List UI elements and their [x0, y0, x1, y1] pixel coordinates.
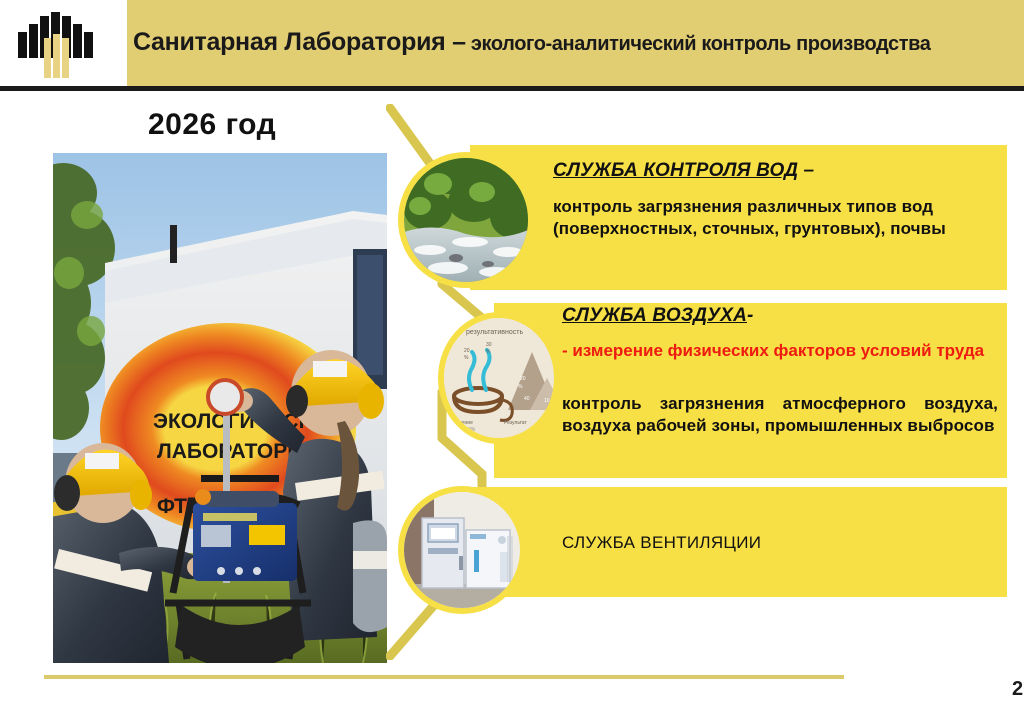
svg-text:%: % — [464, 355, 469, 361]
svg-text:10: 10 — [544, 398, 550, 404]
logo-container — [0, 0, 127, 86]
header-underline — [0, 86, 1024, 91]
slide-root: Санитарная Лаборатория – эколого-аналити… — [0, 0, 1024, 708]
page-title-main: Санитарная Лаборатория – — [133, 28, 466, 56]
year-label: 2026 год — [148, 108, 276, 142]
river-photo-illustration — [404, 158, 528, 282]
panel-air-service — [494, 303, 1007, 478]
page-title: Санитарная Лаборатория – эколого-аналити… — [133, 28, 1013, 57]
water-service-body: контроль загрязнения различных типов вод… — [553, 196, 983, 241]
air-service-highlight: - измерение физических факторов условий … — [562, 340, 998, 362]
svg-text:30: 30 — [486, 342, 492, 348]
footer-rule — [44, 675, 844, 679]
water-service-heading: СЛУЖБА КОНТРОЛЯ ВОД – — [553, 160, 993, 182]
thumb-river-photo — [404, 158, 528, 282]
page-number: 2 — [1012, 678, 1024, 701]
svg-text:план 120%: план 120% — [450, 427, 476, 433]
svg-text:Обучение: Обучение — [450, 420, 473, 426]
thumb-infographic: результативность 20 % 40 10 20 % — [444, 318, 554, 438]
svg-text:%: % — [518, 384, 523, 390]
thumb-lab-equipment — [404, 492, 520, 608]
svg-text:%: % — [486, 349, 491, 355]
water-heading-dash: – — [798, 160, 814, 181]
ventilation-service-heading: СЛУЖБА ВЕНТИЛЯЦИИ — [562, 533, 962, 553]
air-service-heading: СЛУЖБА ВОЗДУХА- — [562, 305, 992, 327]
main-photo-illustration: ЭКОЛОГИЧЕСКАЯ ЛАБОРАТОРИЯ ФТЬ — [53, 153, 387, 663]
svg-text:Результат: Результат — [504, 420, 527, 426]
svg-text:20: 20 — [464, 348, 470, 354]
air-service-body: контроль загрязнения атмосферного воздух… — [562, 393, 998, 438]
rosneft-logo-icon — [18, 12, 110, 78]
air-heading-dash: - — [747, 305, 753, 326]
main-photo: ЭКОЛОГИЧЕСКАЯ ЛАБОРАТОРИЯ ФТЬ — [53, 153, 387, 663]
svg-text:20: 20 — [520, 376, 526, 382]
water-heading-text: СЛУЖБА КОНТРОЛЯ ВОД — [553, 160, 798, 181]
infographic-title: результативность — [466, 329, 523, 336]
svg-text:40: 40 — [524, 396, 530, 402]
infographic-illustration: результативность 20 % 40 10 20 % — [444, 318, 554, 438]
air-heading-text: СЛУЖБА ВОЗДУХА — [562, 305, 747, 326]
lab-equipment-illustration — [404, 492, 520, 608]
page-title-sub: эколого-аналитический контроль производс… — [466, 33, 931, 55]
